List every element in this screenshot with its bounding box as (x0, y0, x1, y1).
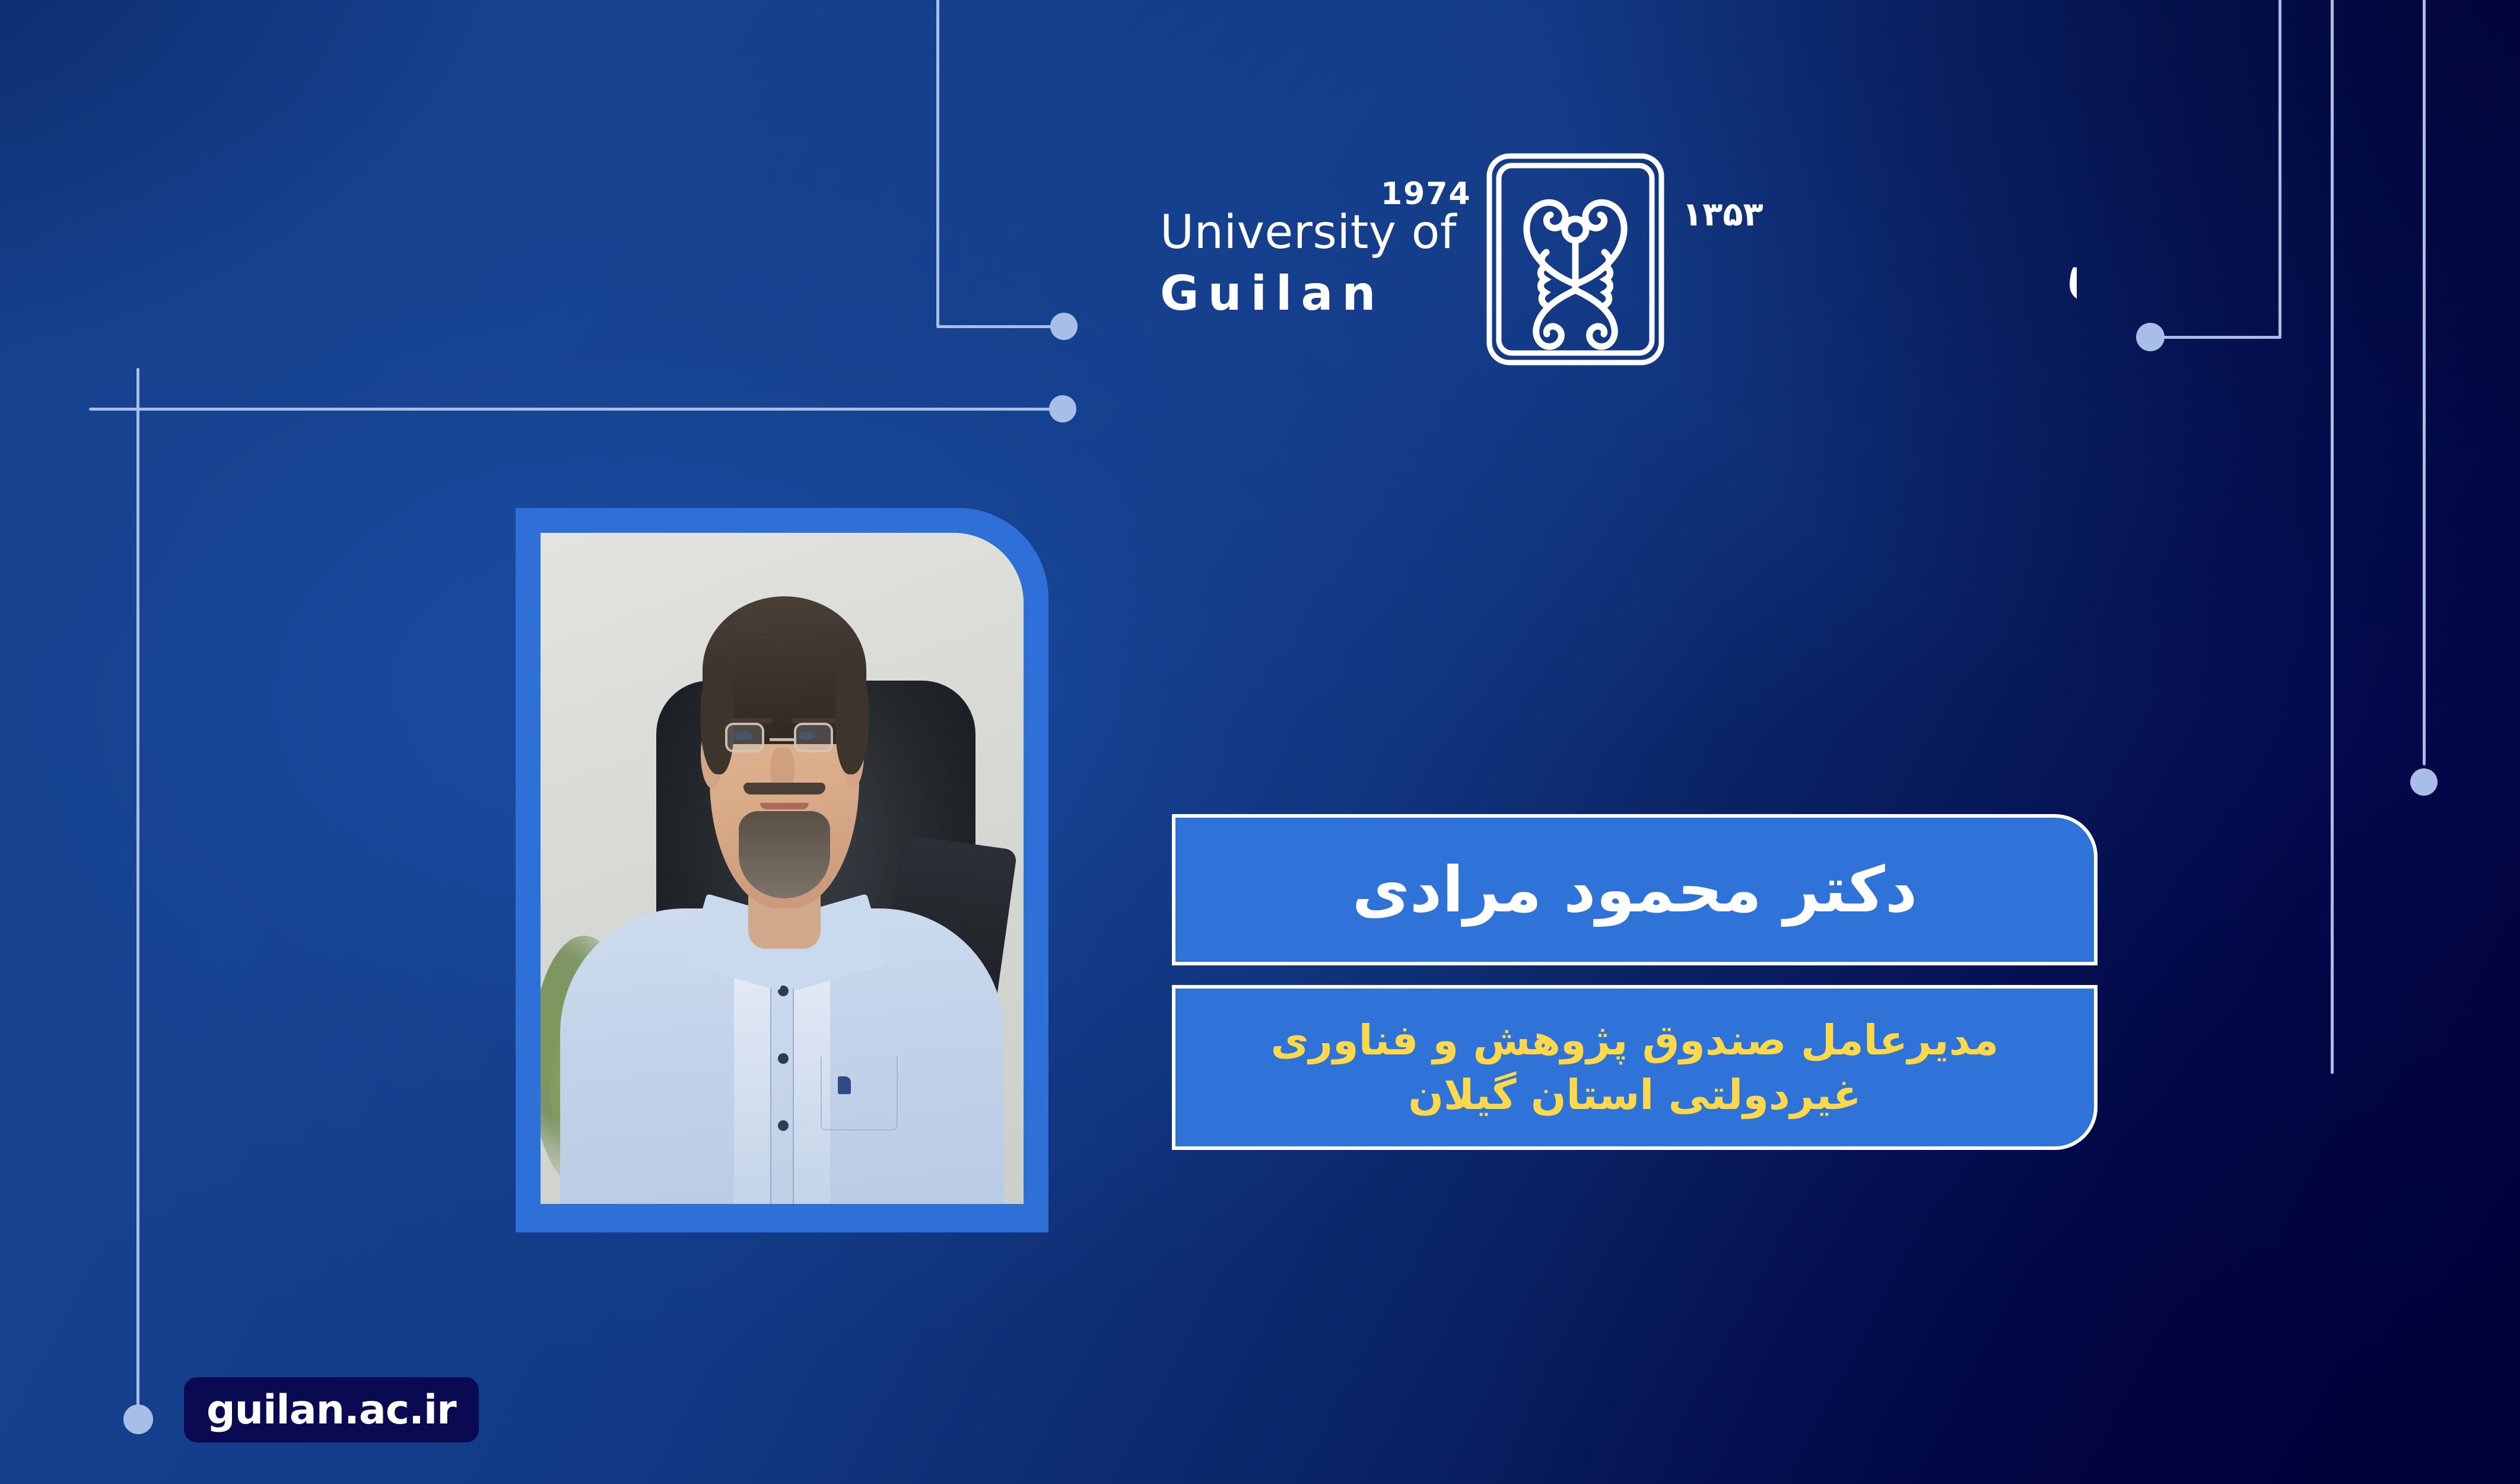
logo-founded-year-gregorian: 1974 (1381, 176, 1472, 212)
portrait-photo (541, 533, 1024, 1204)
guilan-university-emblem-icon (1483, 152, 1667, 366)
person-name: دکتر محمود مرادی (1352, 859, 1917, 921)
photo-mouth (760, 803, 808, 809)
website-url: guilan.ac.ir (206, 1387, 456, 1434)
decor-line-vertical-left (136, 368, 139, 1430)
decor-dot-right (2136, 323, 2165, 351)
university-logo: University of Guilan 1974 (1160, 187, 2074, 371)
photo-shirt-brand-logo (838, 1076, 851, 1094)
decor-dot-far-right (2410, 768, 2438, 796)
decor-line-horizontal-right (2155, 336, 2281, 339)
person-title-line2: غیردولتی استان گیلان (1271, 1067, 1999, 1122)
decor-dot-top-center (1050, 313, 1078, 340)
person-title: مدیرعامل صندوق پژوهش و فناوری غیردولتی ا… (1271, 1013, 1999, 1123)
photo-eyeglass-lens-left (725, 723, 764, 752)
decor-line-vertical-far-right (2423, 0, 2426, 765)
photo-shirt-pocket (821, 1056, 898, 1130)
person-name-badge: دکتر محمود مرادی (1172, 814, 2098, 965)
photo-shirt-button (778, 1053, 789, 1064)
logo-english-name: University of Guilan (1160, 209, 1469, 317)
photo-hair-side-left (700, 660, 734, 774)
decor-line-horizontal-top-center (936, 325, 1061, 328)
decor-dot-left-horizontal-end (1049, 395, 1076, 422)
poster-canvas: University of Guilan 1974 (0, 0, 2520, 1484)
photo-eyeglass-bridge (770, 738, 795, 741)
logo-english-line1: University of (1160, 209, 1469, 256)
decor-dot-left-vertical-end (123, 1404, 153, 1434)
photo-eyeglass-lens-right (794, 723, 833, 752)
person-title-badge: مدیرعامل صندوق پژوهش و فناوری غیردولتی ا… (1172, 985, 2098, 1150)
decor-line-vertical-right-inner (2279, 0, 2281, 337)
logo-persian-name: دانشگاه گیلان (1667, 154, 2077, 350)
photo-hair-side-right (835, 660, 869, 774)
decor-line-vertical-top-center (936, 0, 939, 326)
portrait-frame (516, 508, 1048, 1232)
person-title-line1: مدیرعامل صندوق پژوهش و فناوری (1271, 1013, 1999, 1067)
decor-line-horizontal-left (89, 408, 1062, 411)
photo-beard (739, 811, 831, 898)
logo-english-line2: Guilan (1160, 270, 1469, 317)
decor-line-vertical-right-outer (2331, 0, 2334, 1074)
photo-moustache (743, 783, 825, 795)
website-badge[interactable]: guilan.ac.ir (184, 1377, 479, 1442)
svg-text:دانشگاه گیلان: دانشگاه گیلان (2060, 206, 2077, 310)
